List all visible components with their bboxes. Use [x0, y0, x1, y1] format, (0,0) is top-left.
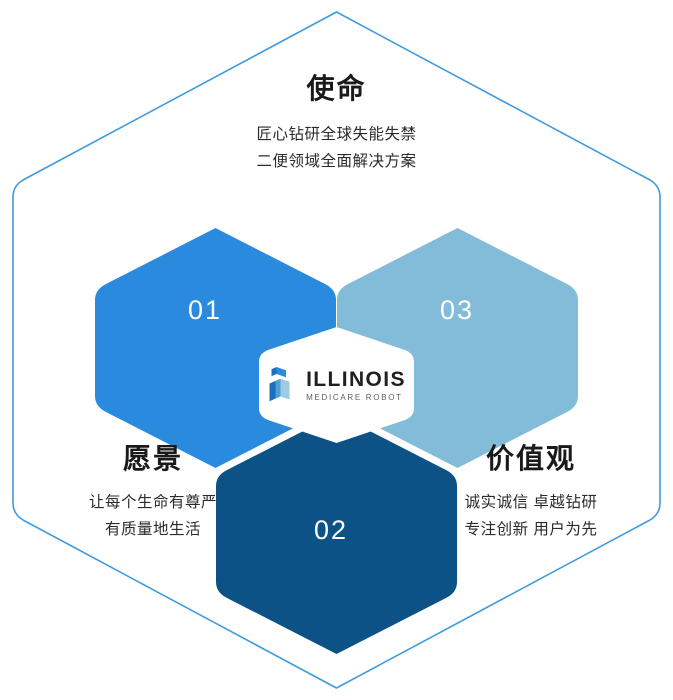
- section-mission-desc-line1: 匠心钻研全球失能失禁: [0, 121, 673, 148]
- hexagon-label-01: 01: [160, 295, 250, 326]
- illinois-logo-mark-icon: [267, 366, 297, 404]
- infographic-canvas: 使命 匠心钻研全球失能失禁 二便领域全面解决方案 愿景 让每个生命有尊严 有质量…: [0, 0, 673, 700]
- section-values-description: 诚实诚信 卓越钻研 专注创新 用户为先: [386, 489, 673, 543]
- section-mission-desc-line2: 二便领域全面解决方案: [0, 148, 673, 175]
- section-mission-heading: 使命: [0, 74, 673, 105]
- logo-tagline: MEDICARE ROBOT: [306, 394, 403, 402]
- section-vision-desc-line2: 有质量地生活: [8, 516, 298, 543]
- section-mission-description: 匠心钻研全球失能失禁 二便领域全面解决方案: [0, 121, 673, 175]
- section-values-desc-line2: 专注创新 用户为先: [386, 516, 673, 543]
- hexagon-label-03: 03: [412, 295, 502, 326]
- section-values-desc-line1: 诚实诚信 卓越钻研: [386, 489, 673, 516]
- section-vision-heading: 愿景: [8, 444, 298, 475]
- section-vision-desc-line1: 让每个生命有尊严: [8, 489, 298, 516]
- section-mission: 使命 匠心钻研全球失能失禁 二便领域全面解决方案: [0, 74, 673, 175]
- section-values-heading: 价值观: [386, 444, 673, 475]
- section-vision-description: 让每个生命有尊严 有质量地生活: [8, 489, 298, 543]
- logo-name: ILLINOIS: [306, 369, 406, 390]
- section-values: 价值观 诚实诚信 卓越钻研 专注创新 用户为先: [386, 444, 673, 543]
- company-logo: ILLINOIS MEDICARE ROBOT: [259, 331, 414, 439]
- hexagon-label-02: 02: [286, 515, 376, 546]
- section-vision: 愿景 让每个生命有尊严 有质量地生活: [8, 444, 298, 543]
